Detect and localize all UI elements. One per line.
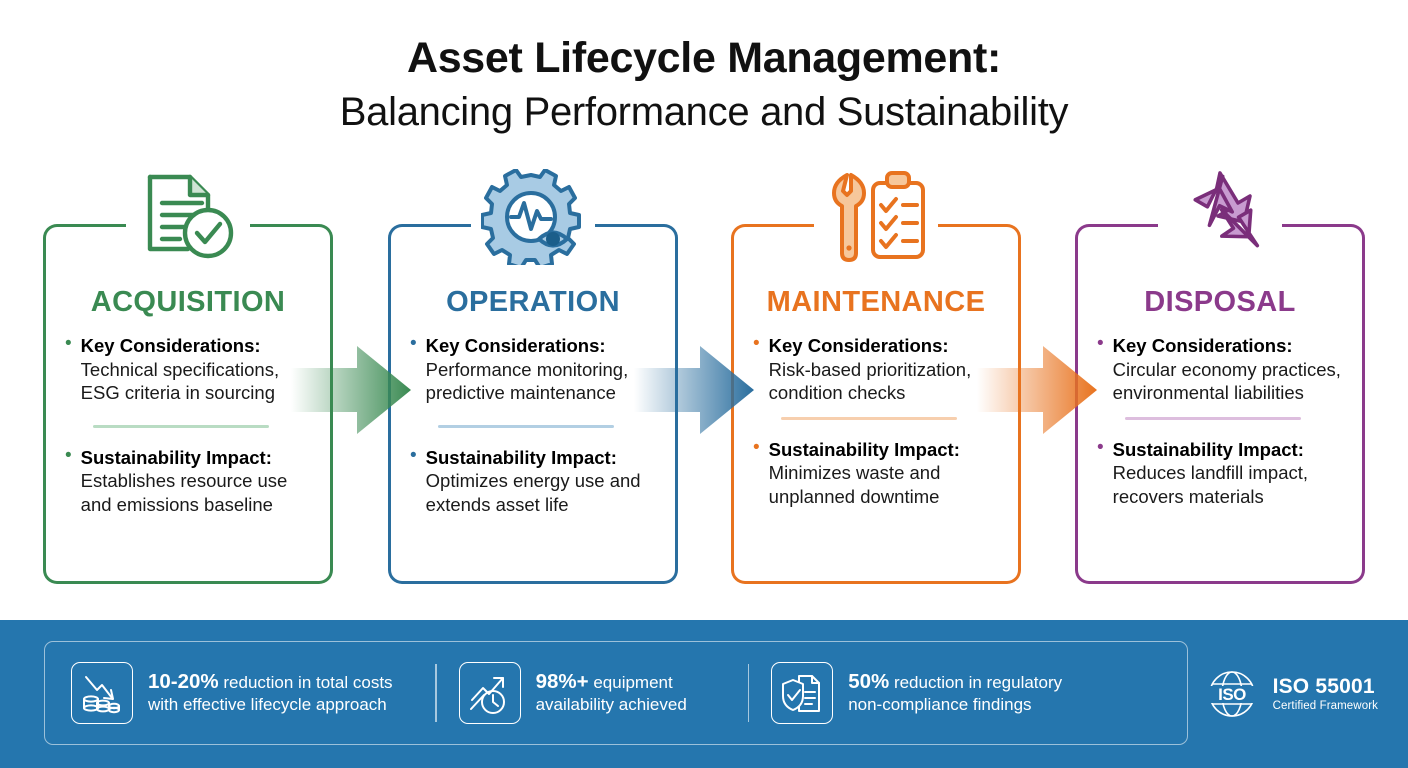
- stage-body: • Key Considerations: Risk-based priorit…: [753, 334, 1009, 508]
- stage-card-acquisition[interactable]: ACQUISITION • Key Considerations: Techni…: [43, 224, 333, 584]
- bullet-value: Circular economy practices, environmenta…: [1113, 359, 1341, 404]
- stat-text: 50% reduction in regulatory non-complian…: [848, 671, 1063, 716]
- bullet-separator: [438, 425, 614, 428]
- title-subtitle: Balancing Performance and Sustainability: [0, 88, 1408, 136]
- stat-value: 50%: [848, 670, 889, 693]
- wrench-clipboard-icon: [814, 165, 938, 269]
- bullet-separator: [781, 417, 957, 420]
- bullet-key-considerations: • Key Considerations: Technical specific…: [65, 334, 321, 405]
- bullet-dot-icon: •: [65, 334, 72, 354]
- stage-card-disposal[interactable]: DISPOSAL • Key Considerations: Circular …: [1075, 224, 1365, 584]
- benefits-banner: 10-20% reduction in total costs with eff…: [0, 620, 1408, 768]
- bullet-dot-icon: •: [410, 446, 417, 466]
- bullet-label: Key Considerations:: [1113, 334, 1353, 358]
- page-title: Asset Lifecycle Management: Balancing Pe…: [0, 34, 1408, 136]
- bullet-value: Performance monitoring, predictive maint…: [426, 359, 629, 404]
- stage-title-operation: OPERATION: [388, 286, 678, 319]
- arrow-acquisition-to-operation: [291, 336, 411, 444]
- bullet-dot-icon: •: [1097, 334, 1104, 354]
- stat-equipment-availability: 98%+ equipment availability achieved: [459, 662, 726, 724]
- banner-divider: [435, 664, 437, 722]
- iso-globe-icon: ISO: [1201, 663, 1263, 725]
- bullet-value: Technical specifications, ESG criteria i…: [81, 359, 279, 404]
- stage-body: • Key Considerations: Technical specific…: [65, 334, 321, 516]
- gear-pulse-eye-icon: [471, 165, 595, 269]
- cost-decline-coins-icon: [71, 662, 133, 724]
- bullet-sustainability-impact: • Sustainability Impact: Establishes res…: [65, 446, 321, 517]
- uptime-clock-growth-icon: [459, 662, 521, 724]
- shield-document-check-icon: [771, 662, 833, 724]
- bullet-value: Reduces landfill impact, recovers materi…: [1113, 462, 1308, 507]
- bullet-separator: [93, 425, 269, 428]
- stat-value: 98%+: [536, 670, 589, 693]
- bullet-label: Key Considerations:: [769, 334, 1009, 358]
- stage-title-maintenance: MAINTENANCE: [731, 286, 1021, 319]
- arrow-maintenance-to-disposal: [977, 336, 1097, 444]
- bullet-key-considerations: • Key Considerations: Risk-based priorit…: [753, 334, 1009, 405]
- benefits-banner-outline: 10-20% reduction in total costs with eff…: [44, 641, 1188, 745]
- stat-text: 10-20% reduction in total costs with eff…: [148, 671, 413, 716]
- iso-standard-name: ISO 55001: [1273, 675, 1378, 699]
- stat-text: 98%+ equipment availability achieved: [536, 671, 726, 716]
- stage-body: • Key Considerations: Performance monito…: [410, 334, 666, 516]
- bullet-sustainability-impact: • Sustainability Impact: Reduces landfil…: [1097, 438, 1353, 509]
- bullet-label: Key Considerations:: [426, 334, 666, 358]
- stage-title-acquisition: ACQUISITION: [43, 286, 333, 319]
- bullet-label: Sustainability Impact:: [769, 438, 1009, 462]
- banner-divider: [748, 664, 750, 722]
- bullet-value: Optimizes energy use and extends asset l…: [426, 470, 641, 515]
- stat-compliance-reduction: 50% reduction in regulatory non-complian…: [771, 662, 1063, 724]
- stat-cost-reduction: 10-20% reduction in total costs with eff…: [71, 662, 413, 724]
- bullet-label: Sustainability Impact:: [81, 446, 321, 470]
- bullet-value: Minimizes waste and unplanned downtime: [769, 462, 941, 507]
- iso-certification-badge: ISO ISO 55001 Certified Framework: [1201, 663, 1378, 725]
- bullet-label: Sustainability Impact:: [1113, 438, 1353, 462]
- bullet-label: Key Considerations:: [81, 334, 321, 358]
- bullet-key-considerations: • Key Considerations: Performance monito…: [410, 334, 666, 405]
- stage-title-disposal: DISPOSAL: [1075, 286, 1365, 319]
- bullet-sustainability-impact: • Sustainability Impact: Optimizes energ…: [410, 446, 666, 517]
- bullet-dot-icon: •: [65, 446, 72, 466]
- iso-standard-subtitle: Certified Framework: [1273, 699, 1378, 713]
- bullet-sustainability-impact: • Sustainability Impact: Minimizes waste…: [753, 438, 1009, 509]
- document-check-icon: [126, 165, 250, 269]
- stage-body: • Key Considerations: Circular economy p…: [1097, 334, 1353, 508]
- bullet-label: Sustainability Impact:: [426, 446, 666, 470]
- bullet-separator: [1125, 417, 1301, 420]
- stat-value: 10-20%: [148, 670, 219, 693]
- bullet-dot-icon: •: [1097, 438, 1104, 458]
- bullet-value: Risk-based prioritization, condition che…: [769, 359, 972, 404]
- arrow-operation-to-maintenance: [634, 336, 754, 444]
- bullet-key-considerations: • Key Considerations: Circular economy p…: [1097, 334, 1353, 405]
- recycle-icon: [1158, 165, 1282, 269]
- title-main: Asset Lifecycle Management:: [0, 34, 1408, 82]
- bullet-value: Establishes resource use and emissions b…: [81, 470, 288, 515]
- svg-text:ISO: ISO: [1218, 685, 1246, 704]
